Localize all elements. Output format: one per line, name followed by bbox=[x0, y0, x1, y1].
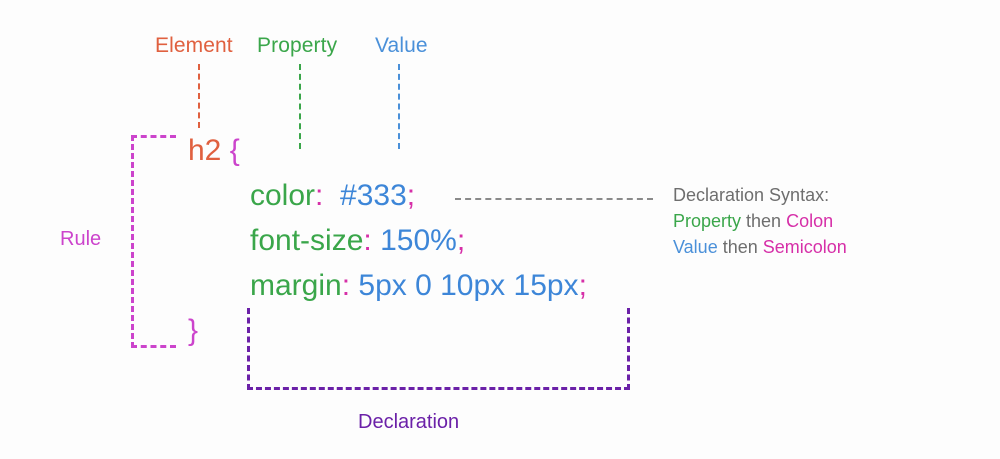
syntax-note-value: Value bbox=[673, 237, 718, 257]
declaration-property: font-size bbox=[250, 224, 363, 257]
declaration-syntax-note: Declaration Syntax: Property then Colon … bbox=[673, 182, 847, 260]
declaration-semicolon: ; bbox=[579, 269, 587, 302]
syntax-note-line-3: Value then Semicolon bbox=[673, 234, 847, 260]
declaration-property: margin bbox=[250, 269, 342, 302]
diagram-canvas: Element Property Value h2 { color: #333;… bbox=[0, 0, 1000, 459]
declaration-value: 5px 0 10px 15px bbox=[358, 269, 578, 302]
code-line-declaration-2: font-size: 150%; bbox=[188, 218, 587, 263]
declaration-semicolon: ; bbox=[457, 224, 465, 257]
syntax-note-semicolon: Semicolon bbox=[763, 237, 847, 257]
rule-bracket bbox=[131, 135, 176, 348]
declaration-value: 150% bbox=[380, 224, 457, 257]
label-element: Element bbox=[155, 35, 233, 56]
code-line-close-brace: } bbox=[188, 308, 198, 353]
syntax-note-then: then bbox=[718, 237, 763, 257]
css-code-block: h2 { color: #333; font-size: 150%; margi… bbox=[188, 128, 587, 308]
syntax-note-property: Property bbox=[673, 211, 741, 231]
declaration-colon: : bbox=[342, 269, 350, 302]
code-line-declaration-3: margin: 5px 0 10px 15px; bbox=[188, 263, 587, 308]
declaration-value: #333 bbox=[340, 179, 407, 212]
syntax-note-line-2: Property then Colon bbox=[673, 208, 847, 234]
label-declaration: Declaration bbox=[358, 411, 459, 434]
syntax-note-colon: Colon bbox=[786, 211, 833, 231]
declaration-property: color bbox=[250, 179, 315, 212]
connector-line-declaration-syntax bbox=[455, 198, 653, 200]
syntax-note-heading: Declaration Syntax: bbox=[673, 182, 847, 208]
css-selector: h2 bbox=[188, 134, 221, 167]
open-brace: { bbox=[230, 134, 240, 167]
code-line-selector: h2 { bbox=[188, 128, 587, 173]
leader-line-element bbox=[198, 64, 200, 128]
code-line-declaration-1: color: #333; bbox=[188, 173, 587, 218]
declaration-colon: : bbox=[363, 224, 371, 257]
label-property: Property bbox=[257, 35, 337, 56]
declaration-semicolon: ; bbox=[407, 179, 415, 212]
label-rule: Rule bbox=[60, 228, 101, 251]
syntax-note-then: then bbox=[741, 211, 786, 231]
close-brace: } bbox=[188, 314, 198, 347]
label-value: Value bbox=[375, 35, 428, 56]
declaration-bracket bbox=[247, 308, 630, 390]
